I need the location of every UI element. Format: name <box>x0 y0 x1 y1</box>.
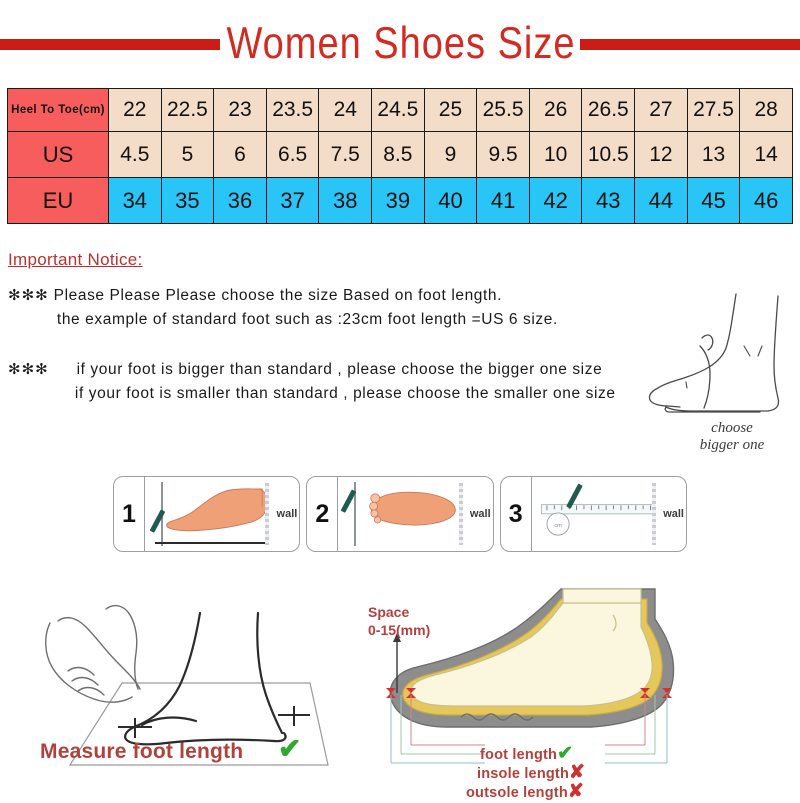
step2-wall-icon <box>459 483 463 545</box>
size-chart-body: Heel To Toe(cm) 22 22.5 23 23.5 24 24.5 … <box>8 89 793 224</box>
cell-us-9: 10.5 <box>582 132 635 178</box>
cell-eu-8: 42 <box>529 178 582 224</box>
outsole-length-text: outsole length <box>466 785 568 801</box>
size-chart-table: Heel To Toe(cm) 22 22.5 23 23.5 24 24.5 … <box>7 88 793 224</box>
step-number-2: 2 <box>307 477 338 551</box>
ruler-icon: cm <box>534 477 682 547</box>
step1-wall-label: wall <box>277 508 298 520</box>
outsole-length-cross-icon: ✘ <box>568 781 584 802</box>
step-panel-1: 1 wall <box>113 476 300 552</box>
row-label-eu: EU <box>8 178 109 224</box>
cell-eu-4: 38 <box>319 178 372 224</box>
cell-cm-8: 26 <box>529 89 582 132</box>
cell-us-5: 8.5 <box>372 132 425 178</box>
notice-heading: Important Notice: <box>8 250 143 270</box>
cell-eu-5: 39 <box>372 178 425 224</box>
cell-us-3: 6.5 <box>266 132 319 178</box>
notice-text-4: if your foot is smaller than standard , … <box>75 385 616 402</box>
cell-cm-10: 27 <box>635 89 688 132</box>
cell-us-10: 12 <box>635 132 688 178</box>
cell-cm-6: 25 <box>424 89 477 132</box>
cell-eu-9: 43 <box>582 178 635 224</box>
cell-us-6: 9 <box>424 132 477 178</box>
step1-floor-line <box>155 542 265 545</box>
cell-eu-0: 34 <box>109 178 162 224</box>
leg-shape <box>563 589 641 603</box>
row-label-us: US <box>8 132 109 178</box>
step-body-3: cm wall <box>532 477 686 551</box>
notice-text-1: Please Please Please choose the size Bas… <box>54 287 502 304</box>
step3-wall-icon <box>652 483 656 545</box>
cell-eu-1: 35 <box>161 178 214 224</box>
row-label-heel-to-toe: Heel To Toe(cm) <box>8 89 109 132</box>
title-rule-right <box>580 39 800 50</box>
cell-us-8: 10 <box>529 132 582 178</box>
step-panel-2: 2 wall <box>306 476 493 552</box>
measure-check-icon: ✔ <box>278 735 301 763</box>
cell-eu-6: 40 <box>424 178 477 224</box>
step3-wall-label: wall <box>663 508 684 520</box>
step-number-1: 1 <box>114 477 145 551</box>
table-row-eu: EU 34 35 36 37 38 39 40 41 42 43 44 45 4… <box>8 178 793 224</box>
cell-eu-10: 44 <box>635 178 688 224</box>
space-label-line2: 0-15(mm) <box>368 622 430 640</box>
step1-wall-icon <box>265 483 269 545</box>
cell-cm-2: 23 <box>214 89 267 132</box>
cell-eu-2: 36 <box>214 178 267 224</box>
cell-cm-1: 22.5 <box>161 89 214 132</box>
page-title-bar: Women Shoes Size <box>0 18 800 70</box>
notice-text-3: if your foot is bigger than standard , p… <box>77 361 603 378</box>
cell-us-2: 6 <box>214 132 267 178</box>
cell-us-7: 9.5 <box>477 132 530 178</box>
table-row-heel-to-toe: Heel To Toe(cm) 22 22.5 23 23.5 24 24.5 … <box>8 89 793 132</box>
cell-us-1: 5 <box>161 132 214 178</box>
choose-bigger-caption: choose bigger one <box>672 420 792 455</box>
space-label: Space 0-15(mm) <box>368 604 430 639</box>
cell-cm-7: 25.5 <box>477 89 530 132</box>
cell-cm-0: 22 <box>109 89 162 132</box>
cell-us-4: 7.5 <box>319 132 372 178</box>
cell-us-0: 4.5 <box>109 132 162 178</box>
cell-eu-3: 37 <box>266 178 319 224</box>
cell-us-11: 13 <box>687 132 740 178</box>
space-label-line1: Space <box>368 604 430 622</box>
cell-cm-3: 23.5 <box>266 89 319 132</box>
page-title: Women Shoes Size <box>226 19 575 70</box>
cell-cm-12: 28 <box>740 89 793 132</box>
step-panel-3: 3 cm wall <box>500 476 687 552</box>
choose-bigger-line1: choose <box>672 420 792 437</box>
step-number-3: 3 <box>501 477 532 551</box>
notice-stars-2: ✻✻✻ <box>8 361 49 378</box>
measure-foot-length-label: Measure foot length <box>40 740 243 764</box>
cell-cm-11: 27.5 <box>687 89 740 132</box>
cell-us-12: 14 <box>740 132 793 178</box>
step2-wall-label: wall <box>470 508 491 520</box>
choose-bigger-line2: bigger one <box>672 437 792 454</box>
cell-cm-4: 24 <box>319 89 372 132</box>
step-body-2: wall <box>338 477 492 551</box>
notice-stars-1: ✻✻✻ <box>8 287 49 304</box>
title-rule-left <box>0 39 220 50</box>
ruler-unit-label: cm <box>554 523 562 529</box>
table-row-us: US 4.5 5 6 6.5 7.5 8.5 9 9.5 10 10.5 12 … <box>8 132 793 178</box>
step-body-1: wall <box>145 477 299 551</box>
measurement-steps: 1 wall 2 wall <box>113 476 687 552</box>
cell-cm-9: 26.5 <box>582 89 635 132</box>
cell-eu-11: 45 <box>687 178 740 224</box>
cell-eu-12: 46 <box>740 178 793 224</box>
cell-cm-5: 24.5 <box>372 89 425 132</box>
notice-text-2: the example of standard foot such as :23… <box>57 311 558 328</box>
cell-eu-7: 41 <box>477 178 530 224</box>
